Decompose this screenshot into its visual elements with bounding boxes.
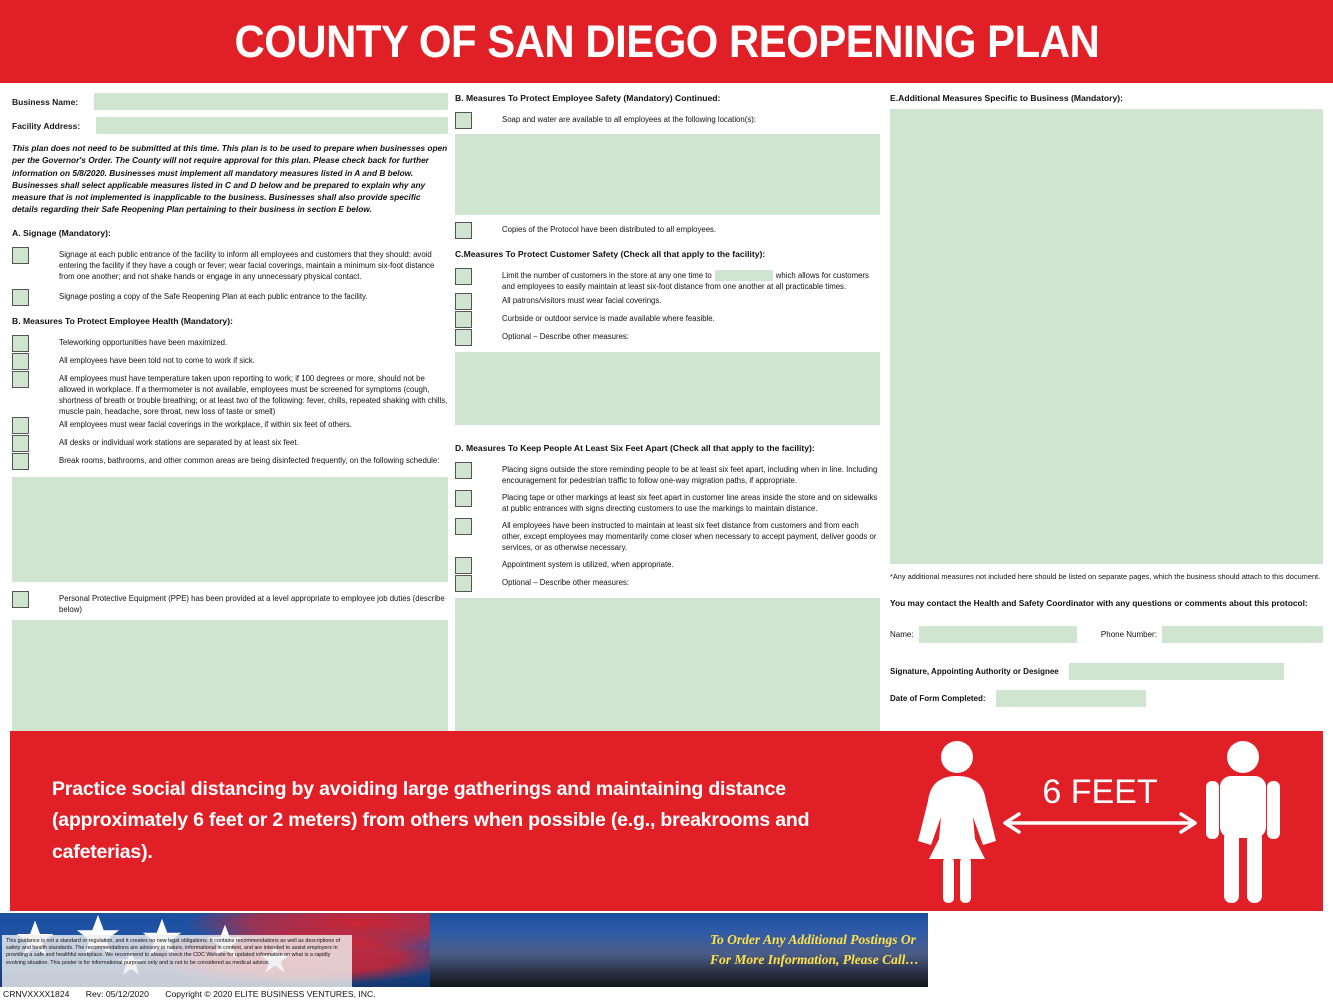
- checkbox-row[interactable]: All employees must have temperature take…: [12, 371, 448, 417]
- flag-band: This guidance is not a standard or regul…: [0, 913, 928, 987]
- checkbox-d4[interactable]: [455, 557, 472, 574]
- section-d-other-textarea[interactable]: [455, 598, 880, 753]
- checkbox-protocol-copies[interactable]: [455, 222, 472, 239]
- business-name-row: Business Name:: [12, 93, 448, 110]
- date-input[interactable]: [996, 690, 1146, 707]
- signature-input[interactable]: [1069, 663, 1284, 680]
- checkbox-d5-label: Optional – Describe other measures:: [502, 575, 629, 588]
- checkbox-protocol-copies-label: Copies of the Protocol have been distrib…: [502, 222, 716, 235]
- checkbox-row[interactable]: All desks or individual work stations ar…: [12, 435, 448, 453]
- date-row: Date of Form Completed:: [890, 690, 1323, 707]
- checkbox-b5-label: All desks or individual work stations ar…: [59, 435, 299, 448]
- disclaimer-box: This guidance is not a standard or regul…: [2, 935, 352, 987]
- column-middle: B. Measures To Protect Employee Safety (…: [455, 93, 880, 753]
- checkbox-row[interactable]: Placing tape or other markings at least …: [455, 490, 880, 514]
- business-name-label: Business Name:: [12, 97, 78, 107]
- checkbox-row[interactable]: Limit the number of customers in the sto…: [455, 268, 880, 293]
- section-b-heading: B. Measures To Protect Employee Health (…: [12, 316, 448, 326]
- customer-limit-input[interactable]: [715, 270, 773, 281]
- checkbox-row[interactable]: All employees have been told not to come…: [12, 353, 448, 371]
- section-b-cont-heading: B. Measures To Protect Employee Safety (…: [455, 93, 880, 103]
- checkbox-row[interactable]: All employees have been instructed to ma…: [455, 518, 880, 553]
- section-c-other-textarea[interactable]: [455, 352, 880, 425]
- checkbox-row[interactable]: Placing signs outside the store remindin…: [455, 462, 880, 486]
- checkbox-row[interactable]: Signage posting a copy of the Safe Reope…: [12, 289, 448, 306]
- copyright-line: CRNVXXXX1824 Rev: 05/12/2020 Copyright ©…: [3, 989, 390, 999]
- checkbox-d1-label: Placing signs outside the store remindin…: [502, 462, 880, 486]
- checkbox-row[interactable]: Signage at each public entrance of the f…: [12, 247, 448, 282]
- checkbox-b4[interactable]: [12, 417, 29, 434]
- section-a-heading: A. Signage (Mandatory):: [12, 228, 448, 238]
- checkbox-soap-water[interactable]: [455, 112, 472, 129]
- checkbox-c4[interactable]: [455, 329, 472, 346]
- facility-address-row: Facility Address:: [12, 117, 448, 134]
- checkbox-row[interactable]: Appointment system is utilized, when app…: [455, 557, 880, 575]
- checkbox-b1-label: Teleworking opportunities have been maxi…: [59, 335, 227, 348]
- signature-row: Signature, Appointing Authority or Desig…: [890, 663, 1323, 680]
- checkbox-d2-label: Placing tape or other markings at least …: [502, 490, 880, 514]
- checkbox-row[interactable]: All employees must wear facial coverings…: [12, 417, 448, 435]
- checkbox-row[interactable]: Personal Protective Equipment (PPE) has …: [12, 591, 448, 615]
- column-right: E.Additional Measures Specific to Busine…: [890, 93, 1323, 707]
- order-info-text: To Order Any Additional Postings Or For …: [710, 930, 925, 971]
- checkbox-row[interactable]: Copies of the Protocol have been distrib…: [455, 222, 880, 239]
- distancing-illustration: 6 FEET: [895, 731, 1315, 911]
- checkbox-b2-label: All employees have been told not to come…: [59, 353, 255, 366]
- facility-address-label: Facility Address:: [12, 121, 80, 131]
- checkbox-b3[interactable]: [12, 371, 29, 388]
- checkbox-c3-label: Curbside or outdoor service is made avai…: [502, 311, 715, 324]
- checkbox-c2[interactable]: [455, 293, 472, 310]
- checkbox-a2[interactable]: [12, 289, 29, 306]
- checkbox-b5[interactable]: [12, 435, 29, 452]
- checkbox-d3[interactable]: [455, 518, 472, 535]
- distance-label: 6 FEET: [1042, 773, 1157, 811]
- copyright-notice: Copyright © 2020 ELITE BUSINESS VENTURES…: [165, 989, 375, 999]
- disclaimer-text: This guidance is not a standard or regul…: [6, 938, 348, 967]
- business-name-input[interactable]: [94, 93, 448, 110]
- page-title: COUNTY OF SAN DIEGO REOPENING PLAN: [234, 16, 1099, 68]
- coordinator-phone-input[interactable]: [1162, 626, 1323, 643]
- date-label: Date of Form Completed:: [890, 694, 986, 703]
- checkbox-b1[interactable]: [12, 335, 29, 352]
- checkbox-a2-label: Signage posting a copy of the Safe Reope…: [59, 289, 367, 302]
- soap-location-textarea[interactable]: [455, 134, 880, 215]
- checkbox-ppe[interactable]: [12, 591, 29, 608]
- checkbox-d3-label: All employees have been instructed to ma…: [502, 518, 880, 553]
- limit-text-before: Limit the number of customers in the sto…: [502, 271, 712, 280]
- page-footer: This guidance is not a standard or regul…: [0, 913, 1333, 1000]
- facility-address-input[interactable]: [96, 117, 448, 134]
- checkbox-b4-label: All employees must wear facial coverings…: [59, 417, 352, 430]
- column-left: Business Name: Facility Address: This pl…: [12, 93, 448, 759]
- checkbox-ppe-label: Personal Protective Equipment (PPE) has …: [59, 591, 448, 615]
- social-distancing-banner: Practice social distancing by avoiding l…: [10, 731, 1323, 911]
- poster-page: COUNTY OF SAN DIEGO REOPENING PLAN Busin…: [0, 0, 1333, 1000]
- checkbox-a1[interactable]: [12, 247, 29, 264]
- banner-text: Practice social distancing by avoiding l…: [52, 774, 822, 869]
- checkbox-b2[interactable]: [12, 353, 29, 370]
- checkbox-b6[interactable]: [12, 453, 29, 470]
- checkbox-c2-label: All patrons/visitors must wear facial co…: [502, 293, 661, 306]
- checkbox-row[interactable]: Soap and water are available to all empl…: [455, 112, 880, 129]
- checkbox-row[interactable]: All patrons/visitors must wear facial co…: [455, 293, 880, 311]
- section-e-textarea[interactable]: [890, 109, 1323, 564]
- coordinator-name-input[interactable]: [919, 626, 1077, 643]
- checkbox-row[interactable]: Break rooms, bathrooms, and other common…: [12, 453, 448, 471]
- revision-date: Rev: 05/12/2020: [86, 989, 149, 999]
- signature-label: Signature, Appointing Authority or Desig…: [890, 667, 1059, 676]
- contact-heading: You may contact the Health and Safety Co…: [890, 598, 1323, 608]
- page-header: COUNTY OF SAN DIEGO REOPENING PLAN: [0, 0, 1333, 83]
- checkbox-c3[interactable]: [455, 311, 472, 328]
- checkbox-c1-label: Limit the number of customers in the sto…: [502, 268, 880, 293]
- checkbox-c1[interactable]: [455, 268, 472, 285]
- checkbox-d2[interactable]: [455, 490, 472, 507]
- six-feet-graphic: 6 FEET: [895, 731, 1315, 911]
- checkbox-a1-label: Signage at each public entrance of the f…: [59, 247, 448, 282]
- phone-label: Phone Number:: [1101, 630, 1157, 639]
- section-e-footnote: *Any additional measures not included he…: [890, 572, 1323, 582]
- checkbox-row[interactable]: Optional – Describe other measures:: [455, 575, 880, 593]
- checkbox-d1[interactable]: [455, 462, 472, 479]
- checkbox-row[interactable]: Teleworking opportunities have been maxi…: [12, 335, 448, 353]
- checkbox-row[interactable]: Optional – Describe other measures:: [455, 329, 880, 347]
- name-label: Name:: [890, 630, 914, 639]
- section-d-heading: D. Measures To Keep People At Least Six …: [455, 443, 880, 453]
- checkbox-b3-label: All employees must have temperature take…: [59, 371, 448, 417]
- checkbox-d4-label: Appointment system is utilized, when app…: [502, 557, 674, 570]
- checkbox-row[interactable]: Curbside or outdoor service is made avai…: [455, 311, 880, 329]
- checkbox-b6-label: Break rooms, bathrooms, and other common…: [59, 453, 439, 466]
- document-id: CRNVXXXX1824: [3, 989, 69, 999]
- name-phone-row: Name: Phone Number:: [890, 626, 1323, 643]
- checkbox-c4-label: Optional – Describe other measures:: [502, 329, 629, 342]
- intro-paragraph: This plan does not need to be submitted …: [12, 142, 448, 216]
- checkbox-soap-water-label: Soap and water are available to all empl…: [502, 112, 756, 125]
- woman-icon: [918, 741, 996, 903]
- checkbox-d5[interactable]: [455, 575, 472, 592]
- man-icon: [1206, 741, 1280, 903]
- distance-arrow-icon: [1005, 814, 1195, 832]
- form-body: Business Name: Facility Address: This pl…: [0, 83, 1333, 723]
- section-c-heading: C.Measures To Protect Customer Safety (C…: [455, 249, 880, 259]
- disinfection-schedule-textarea[interactable]: [12, 477, 448, 582]
- section-e-heading: E.Additional Measures Specific to Busine…: [890, 93, 1323, 103]
